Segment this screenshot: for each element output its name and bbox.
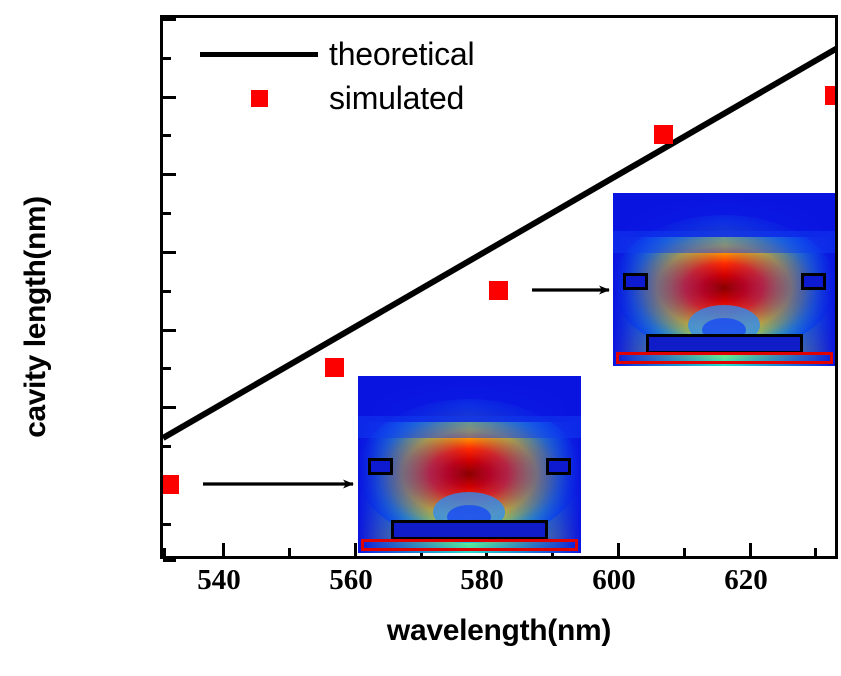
x-tick-label: 540 [159, 566, 279, 595]
data-point-simulated [825, 86, 835, 105]
plot-area: theoretical simulated [163, 18, 835, 556]
x-axis-title: wavelength(nm) [160, 614, 838, 648]
data-point-simulated [489, 281, 508, 300]
data-point-simulated [325, 358, 344, 377]
x-tick-label: 560 [291, 566, 411, 595]
legend-label: simulated [323, 80, 464, 117]
data-point-simulated [654, 125, 673, 144]
data-point-simulated [163, 475, 179, 494]
legend: theoretical simulated [195, 32, 474, 120]
x-tick-label: 580 [422, 566, 542, 595]
y-axis-title: cavity length(nm) [19, 87, 53, 547]
legend-square-swatch [195, 90, 323, 107]
legend-line-swatch [195, 52, 323, 57]
y-tick-major [163, 559, 176, 562]
x-tick-label: 620 [686, 566, 806, 595]
legend-item-simulated: simulated [195, 76, 474, 120]
legend-item-theoretical: theoretical [195, 32, 474, 76]
legend-label: theoretical [323, 36, 474, 73]
plot-frame: theoretical simulated [160, 15, 838, 559]
x-tick-label: 600 [554, 566, 674, 595]
chart-figure: cavity length(nm) wavelength(nm) 160 155… [0, 0, 841, 676]
